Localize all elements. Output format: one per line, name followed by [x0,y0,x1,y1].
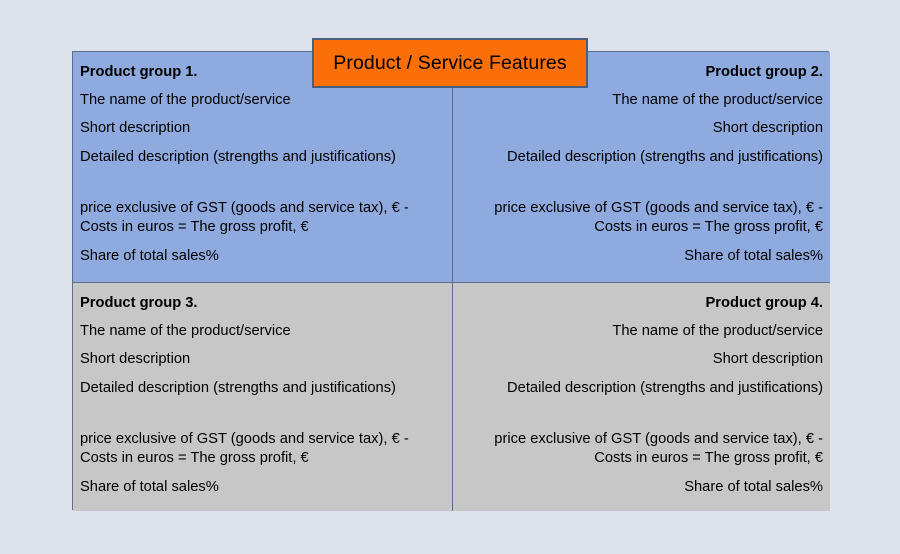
quadrant-1-price-line: price exclusive of GST (goods and servic… [80,199,445,238]
quadrant-2-name-line: The name of the product/service [460,93,823,108]
quadrant-1-spacer [80,178,445,199]
quadrant-2-detailed-description: Detailed description (strengths and just… [460,150,823,165]
quadrant-product-group-4[interactable]: Product group 4. The name of the product… [453,283,830,511]
slide-canvas: Product group 1. The name of the product… [0,0,900,554]
quadrant-3-share-line: Share of total sales% [80,480,445,495]
quadrant-2-spacer [460,178,823,199]
quadrant-1-share-line: Share of total sales% [80,249,445,264]
quadrant-4-detailed-description: Detailed description (strengths and just… [460,381,823,396]
quadrant-3-name-line: The name of the product/service [80,324,445,339]
quadrant-4-name-line: The name of the product/service [460,324,823,339]
quadrant-3-title: Product group 3. [80,296,445,311]
quadrant-3-price-line: price exclusive of GST (goods and servic… [80,430,445,469]
quadrant-2-share-line: Share of total sales% [460,249,823,264]
product-group-matrix: Product group 1. The name of the product… [72,51,829,510]
quadrant-4-share-line: Share of total sales% [460,480,823,495]
quadrant-3-detailed-description: Detailed description (strengths and just… [80,381,445,396]
quadrant-2-short-description: Short description [460,121,823,136]
quadrant-4-price-line: price exclusive of GST (goods and servic… [460,430,823,469]
quadrant-4-title: Product group 4. [460,296,823,311]
quadrant-1-detailed-description: Detailed description (strengths and just… [80,150,445,165]
title-banner[interactable]: Product / Service Features [312,38,588,88]
quadrant-1-short-description: Short description [80,121,445,136]
quadrant-4-spacer [460,409,823,430]
title-banner-label: Product / Service Features [333,52,566,75]
quadrant-3-short-description: Short description [80,352,445,367]
quadrant-2-price-line: price exclusive of GST (goods and servic… [460,199,823,238]
quadrant-4-short-description: Short description [460,352,823,367]
quadrant-1-name-line: The name of the product/service [80,93,445,108]
quadrant-3-spacer [80,409,445,430]
quadrant-product-group-3[interactable]: Product group 3. The name of the product… [73,283,453,511]
